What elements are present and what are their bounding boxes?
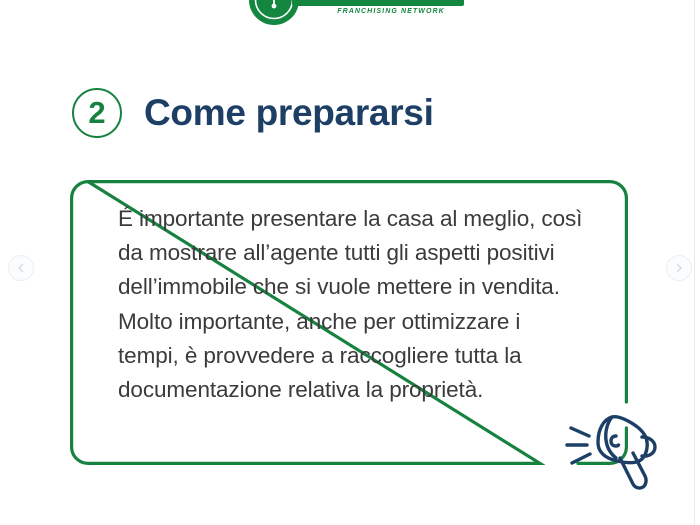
chevron-right-icon <box>674 263 684 273</box>
card-body-text: É importante presentare la casa al megli… <box>118 202 586 407</box>
section-heading: 2 Come prepararsi <box>72 88 434 138</box>
content-card: É importante presentare la casa al megli… <box>70 180 628 465</box>
slide-canvas: KELLER WILLIAMS FRANCHISING NETWORK 2 Co… <box>0 0 700 525</box>
carousel-next-button[interactable] <box>666 255 692 281</box>
logo-wordmark: KELLER WILLIAMS <box>292 0 464 6</box>
logo-tagline: FRANCHISING NETWORK <box>318 8 464 15</box>
step-number-label: 2 <box>88 97 105 128</box>
page-title: Come prepararsi <box>144 92 434 134</box>
megaphone-icon <box>563 398 659 490</box>
chevron-left-icon <box>16 263 26 273</box>
carousel-prev-button[interactable] <box>8 255 34 281</box>
step-number-badge: 2 <box>72 88 122 138</box>
brand-logo: KELLER WILLIAMS FRANCHISING NETWORK <box>0 0 700 32</box>
viewport-edge-rule <box>694 0 695 525</box>
